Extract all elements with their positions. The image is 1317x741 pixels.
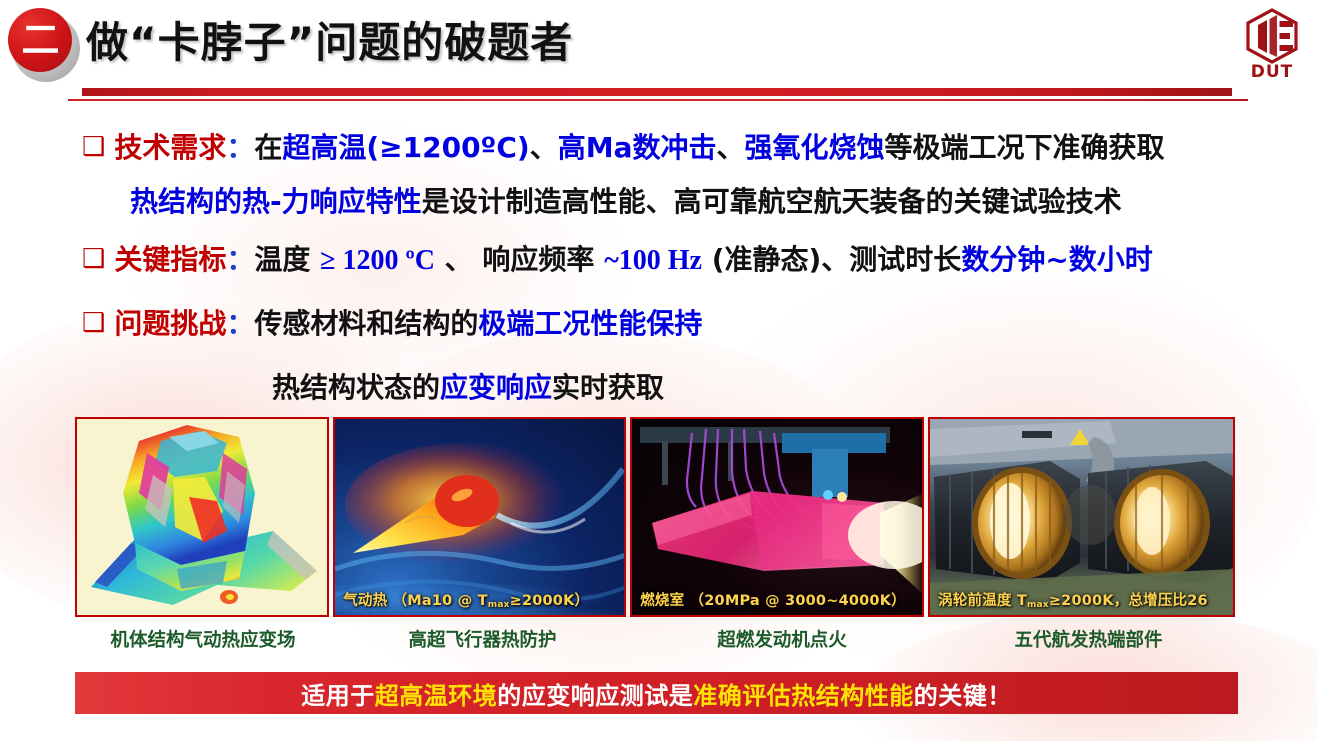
text-run: 、 — [530, 131, 558, 164]
figure-scramjet-engine-ignition: 燃烧室 （20MPa @ 3000~4000K） — [630, 417, 924, 617]
badge-circle: 二 — [8, 8, 72, 72]
bullet-technical-requirement-line2: 热结构的热-力响应特性是设计制造高性能、高可靠航空航天装备的关键试验技术 — [130, 180, 1122, 220]
bullet-marker-icon: ❑ — [82, 132, 105, 162]
figure-hypersonic-vehicle-thermal-protection: 气动热 （Ma10 @ Tmax≥2000K） — [333, 417, 626, 617]
caption-text: ≥2000K，总增压比26 — [1049, 593, 1208, 609]
afterburner-nozzle-image: 涡轮前温度 Tmax≥2000K，总增压比26 — [930, 419, 1233, 615]
bullet-label: 关键指标 — [114, 243, 226, 276]
bullet-label: 问题挑战 — [114, 307, 226, 340]
banner-segment: 适用于 — [301, 682, 375, 710]
figure-caption: 机体结构气动热应变场 — [75, 626, 331, 652]
bullet-colon: ： — [226, 131, 254, 164]
text-run-emphasis: 数分钟~数小时 — [961, 243, 1152, 276]
text-run-emphasis: 高Ma数冲击 — [558, 131, 717, 164]
caption-subscript: max — [1027, 600, 1049, 610]
scramjet-test-image: 燃烧室 （20MPa @ 3000~4000K） — [632, 419, 922, 615]
badge-number-text: 二 — [21, 21, 58, 59]
text-run: 是设计制造高性能、高可靠航空航天装备的关键试验技术 — [422, 185, 1122, 218]
text-run-emphasis: 热结构的热-力响应特性 — [130, 185, 422, 218]
bullet-label: 技术需求 — [114, 131, 226, 164]
figure-airframe-aerothermal-strain-field — [75, 417, 329, 617]
page-title: 做“卡脖子”问题的破题者 — [86, 9, 573, 70]
dut-university-logo: DUT — [1236, 8, 1308, 84]
figure-fifth-generation-aeroengine-hot-end-parts: 涡轮前温度 Tmax≥2000K，总增压比26 — [928, 417, 1235, 617]
text-run: 等极端工况下准确获取 — [885, 131, 1165, 164]
bullet-marker-icon: ❑ — [82, 244, 105, 274]
text-run-emphasis: ~100 Hz — [604, 245, 702, 276]
bullet-technical-requirement: ❑技术需求：在超高温(≥1200ºC)、高Ma数冲击、强氧化烧蚀等极端工况下准确… — [82, 126, 1165, 166]
bullet-colon: ： — [226, 243, 254, 276]
slide-canvas: 二 做“卡脖子”问题的破题者 DUT ❑技术需求：在超高温(≥1200ºC)、高… — [0, 0, 1317, 741]
text-run-emphasis: 应变响应 — [440, 371, 552, 404]
text-run-emphasis: 极端工况性能保持 — [478, 307, 702, 340]
bullet-colon: ： — [226, 307, 254, 340]
in-image-caption: 气动热 （Ma10 @ Tmax≥2000K） — [343, 589, 620, 610]
text-run: 、 — [716, 131, 744, 164]
bullet-problem-challenge-line2: 热结构状态的应变响应实时获取 — [272, 366, 664, 406]
banner-segment: 的关键！ — [914, 682, 1012, 710]
text-run: 、 响应频率 — [435, 243, 604, 276]
bullet-problem-challenge: ❑问题挑战：传感材料和结构的极端工况性能保持 — [82, 302, 702, 342]
caption-text: 气动热 （Ma10 @ T — [343, 593, 488, 609]
text-run-emphasis: 强氧化烧蚀 — [744, 131, 884, 164]
banner-segment: 的应变响应测试是 — [497, 682, 693, 710]
text-run: 传感材料和结构的 — [254, 307, 478, 340]
header-divider-thin — [68, 99, 1248, 101]
header-divider-thick — [82, 88, 1232, 96]
section-number-badge: 二 — [8, 8, 82, 82]
in-image-caption: 燃烧室 （20MPa @ 3000~4000K） — [640, 589, 918, 610]
text-run: 热结构状态的 — [272, 371, 440, 404]
banner-highlight: 超高温环境 — [375, 682, 498, 710]
in-image-caption: 涡轮前温度 Tmax≥2000K，总增压比26 — [938, 589, 1229, 610]
hypersonic-aeroheating-image: 气动热 （Ma10 @ Tmax≥2000K） — [335, 419, 624, 615]
logo-label: DUT — [1236, 62, 1308, 82]
caption-subscript: max — [488, 600, 510, 610]
figure-caption: 高超飞行器热防护 — [335, 626, 630, 652]
figure-caption: 五代航发热端部件 — [934, 626, 1243, 652]
figure-caption: 超燃发动机点火 — [634, 626, 930, 652]
slide-header: 二 做“卡脖子”问题的破题者 — [0, 0, 1317, 108]
conclusion-banner: 适用于超高温环境的应变响应测试是准确评估热结构性能的关键！ — [75, 672, 1238, 714]
text-run: 温度 — [254, 243, 320, 276]
bullet-marker-icon: ❑ — [82, 308, 105, 338]
figure-strip: 气动热 （Ma10 @ Tmax≥2000K） — [75, 417, 1235, 617]
banner-text: 适用于超高温环境的应变响应测试是准确评估热结构性能的关键！ — [301, 676, 1012, 711]
text-run: (准静态)、测试时长 — [702, 243, 961, 276]
caption-text: 涡轮前温度 T — [938, 593, 1027, 609]
text-run-emphasis: 超高温(≥1200ºC) — [282, 131, 529, 164]
text-run: 在 — [254, 131, 282, 164]
banner-highlight: 准确评估热结构性能 — [693, 682, 914, 710]
caption-text: ≥2000K） — [510, 593, 590, 609]
bullet-key-metrics: ❑关键指标：温度 ≥ 1200 ºC 、 响应频率 ~100 Hz (准静态)、… — [82, 238, 1153, 278]
text-run: 实时获取 — [552, 371, 664, 404]
cfd-rainbow-contour-image — [77, 419, 327, 615]
text-run-emphasis: ≥ 1200 ºC — [320, 245, 435, 276]
atmosphere-glow — [335, 419, 624, 615]
